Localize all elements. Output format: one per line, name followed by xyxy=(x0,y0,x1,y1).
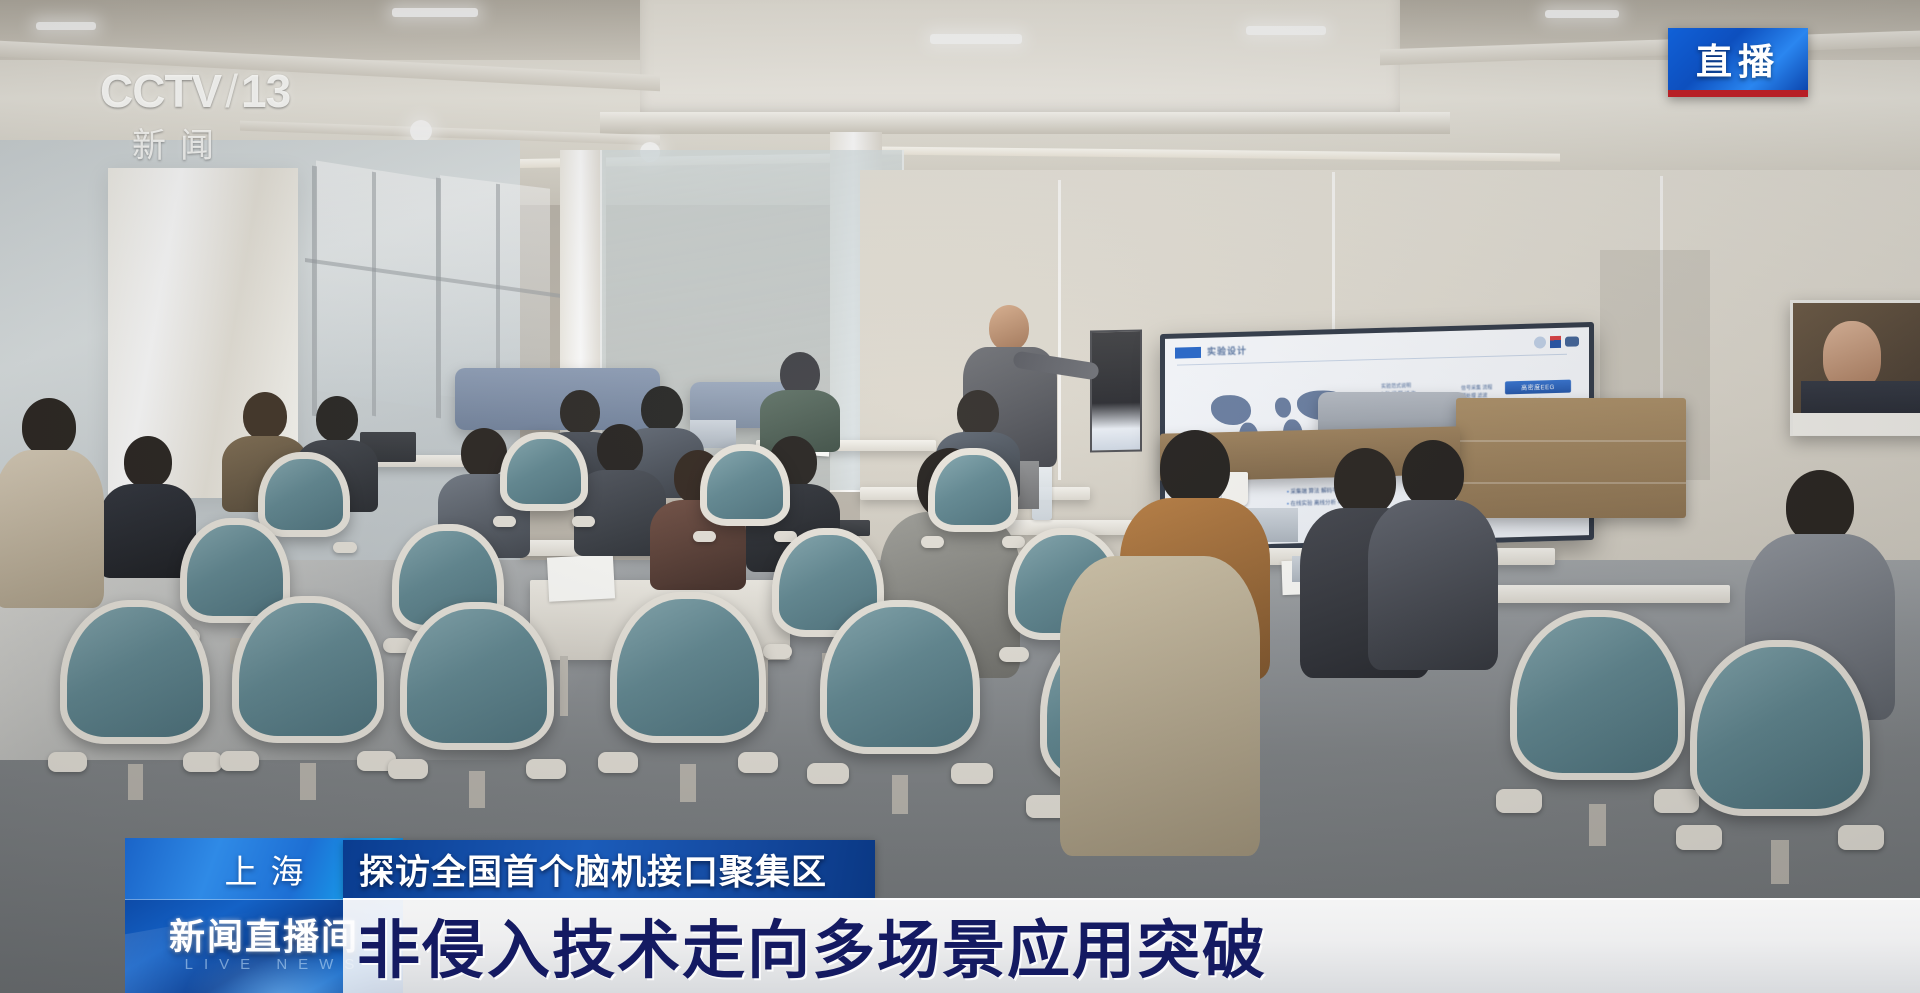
chair-stem xyxy=(680,764,696,802)
office-chair xyxy=(610,592,766,802)
chair-arm xyxy=(48,752,87,772)
slide-logo-shield-icon xyxy=(1550,336,1561,348)
audience-body xyxy=(0,450,104,608)
office-chair xyxy=(60,600,210,800)
chair-arm xyxy=(526,759,566,780)
slide-logo-mark-icon xyxy=(1565,336,1579,346)
chair-back xyxy=(1690,640,1870,816)
headline-hairline xyxy=(343,898,1920,900)
desk-leg xyxy=(560,656,568,716)
chair-arm xyxy=(333,542,357,554)
ceiling-light xyxy=(392,8,478,17)
draped-coat xyxy=(1060,556,1260,856)
chair-stem xyxy=(469,771,484,808)
broadcast-screenshot: 实验设计 实验范式说明 1 秒 间 隔 试 次 被试任务描述 刺激呈现时序 采集… xyxy=(0,0,1920,993)
chair-arm xyxy=(183,752,222,772)
office-chair xyxy=(500,432,588,542)
audience-head xyxy=(124,436,172,488)
ceiling-light xyxy=(1246,26,1326,35)
slide-chip-top: 高密度EEG xyxy=(1505,380,1571,395)
cctv-slash-icon: / xyxy=(225,64,237,118)
ceiling-light xyxy=(930,34,1022,44)
chair-arm xyxy=(693,531,716,542)
live-badge-label: 直播 xyxy=(1696,33,1780,85)
audience-head xyxy=(597,424,643,474)
paper-sheet xyxy=(547,554,615,601)
audience-body xyxy=(1368,500,1498,670)
audience-member xyxy=(1368,440,1498,670)
window-mullion xyxy=(312,166,317,417)
ceiling-light xyxy=(1545,10,1619,18)
chair-back xyxy=(820,600,980,754)
audience-head xyxy=(957,390,999,436)
soffit-edge xyxy=(600,112,1450,134)
chair-arm xyxy=(951,763,993,784)
chair-arm xyxy=(807,763,849,784)
chair-back xyxy=(928,448,1018,532)
channel-logo-bug: CCTV / 13 新闻 xyxy=(100,62,340,166)
presenter-head xyxy=(989,305,1029,351)
cctv-text: CCTV xyxy=(100,64,221,118)
chair-back xyxy=(500,432,588,511)
lower-third: 上海 新闻直播间 LIVE NEWS 探访全国首个脑机接口聚集区 非侵入技术走向… xyxy=(0,838,1920,993)
ceiling-light xyxy=(36,22,96,30)
chair-arm xyxy=(921,536,944,548)
coat-body xyxy=(1060,556,1260,856)
chair-stem xyxy=(128,764,143,800)
office-chair xyxy=(928,448,1018,564)
office-chair xyxy=(820,600,980,814)
window-mullion xyxy=(372,172,376,417)
chair-stem xyxy=(892,775,908,814)
cctv-channel-number: 13 xyxy=(241,64,290,118)
location-text: 上海 xyxy=(212,845,317,893)
chair-back xyxy=(60,600,210,744)
chair-back xyxy=(232,596,384,743)
chair-arm xyxy=(763,644,792,659)
live-badge: 直播 xyxy=(1668,28,1808,97)
glass-pane xyxy=(316,160,436,409)
office-chair xyxy=(400,602,554,808)
audience-member xyxy=(0,398,104,608)
channel-name: 新闻 xyxy=(132,118,228,167)
window-mullion xyxy=(436,178,441,419)
cctv-wordmark: CCTV / 13 xyxy=(100,62,340,120)
kicker-text: 探访全国首个脑机接口聚集区 xyxy=(343,844,827,895)
audience-head xyxy=(1402,440,1464,508)
poster-caption xyxy=(1793,413,1920,435)
chair-back xyxy=(400,602,554,750)
kicker-bar: 探访全国首个脑机接口聚集区 xyxy=(343,840,875,898)
headline-bar: 非侵入技术走向多场景应用突破 xyxy=(343,898,1920,993)
wall-poster xyxy=(1790,300,1920,436)
slide-logo-circle-icon xyxy=(1534,336,1546,348)
audience-head xyxy=(22,398,76,456)
office-chair xyxy=(1510,610,1685,846)
chair-arm xyxy=(388,759,428,780)
audience-head xyxy=(316,396,358,442)
audience-head xyxy=(1786,470,1854,544)
chair-arm xyxy=(598,752,639,773)
chair-arm xyxy=(572,516,595,527)
chair-back xyxy=(1510,610,1685,780)
chair-back xyxy=(700,444,790,526)
audience-head xyxy=(1160,430,1230,506)
chair-arm xyxy=(220,751,260,771)
chair-arm xyxy=(999,647,1029,663)
atrium-soffit xyxy=(640,0,1400,118)
chair-arm xyxy=(738,752,779,773)
headline-text: 非侵入技术走向多场景应用突破 xyxy=(343,900,1267,991)
chair-back xyxy=(610,592,766,743)
audience-head xyxy=(243,392,287,440)
slide-title: 实验设计 xyxy=(1207,344,1247,358)
slide-logos xyxy=(1534,335,1579,348)
chair-stem xyxy=(300,763,315,800)
office-chair xyxy=(232,596,384,800)
chair-arm xyxy=(1496,789,1542,813)
pendant-light xyxy=(410,120,432,142)
slide-accent-bar xyxy=(1175,347,1201,359)
